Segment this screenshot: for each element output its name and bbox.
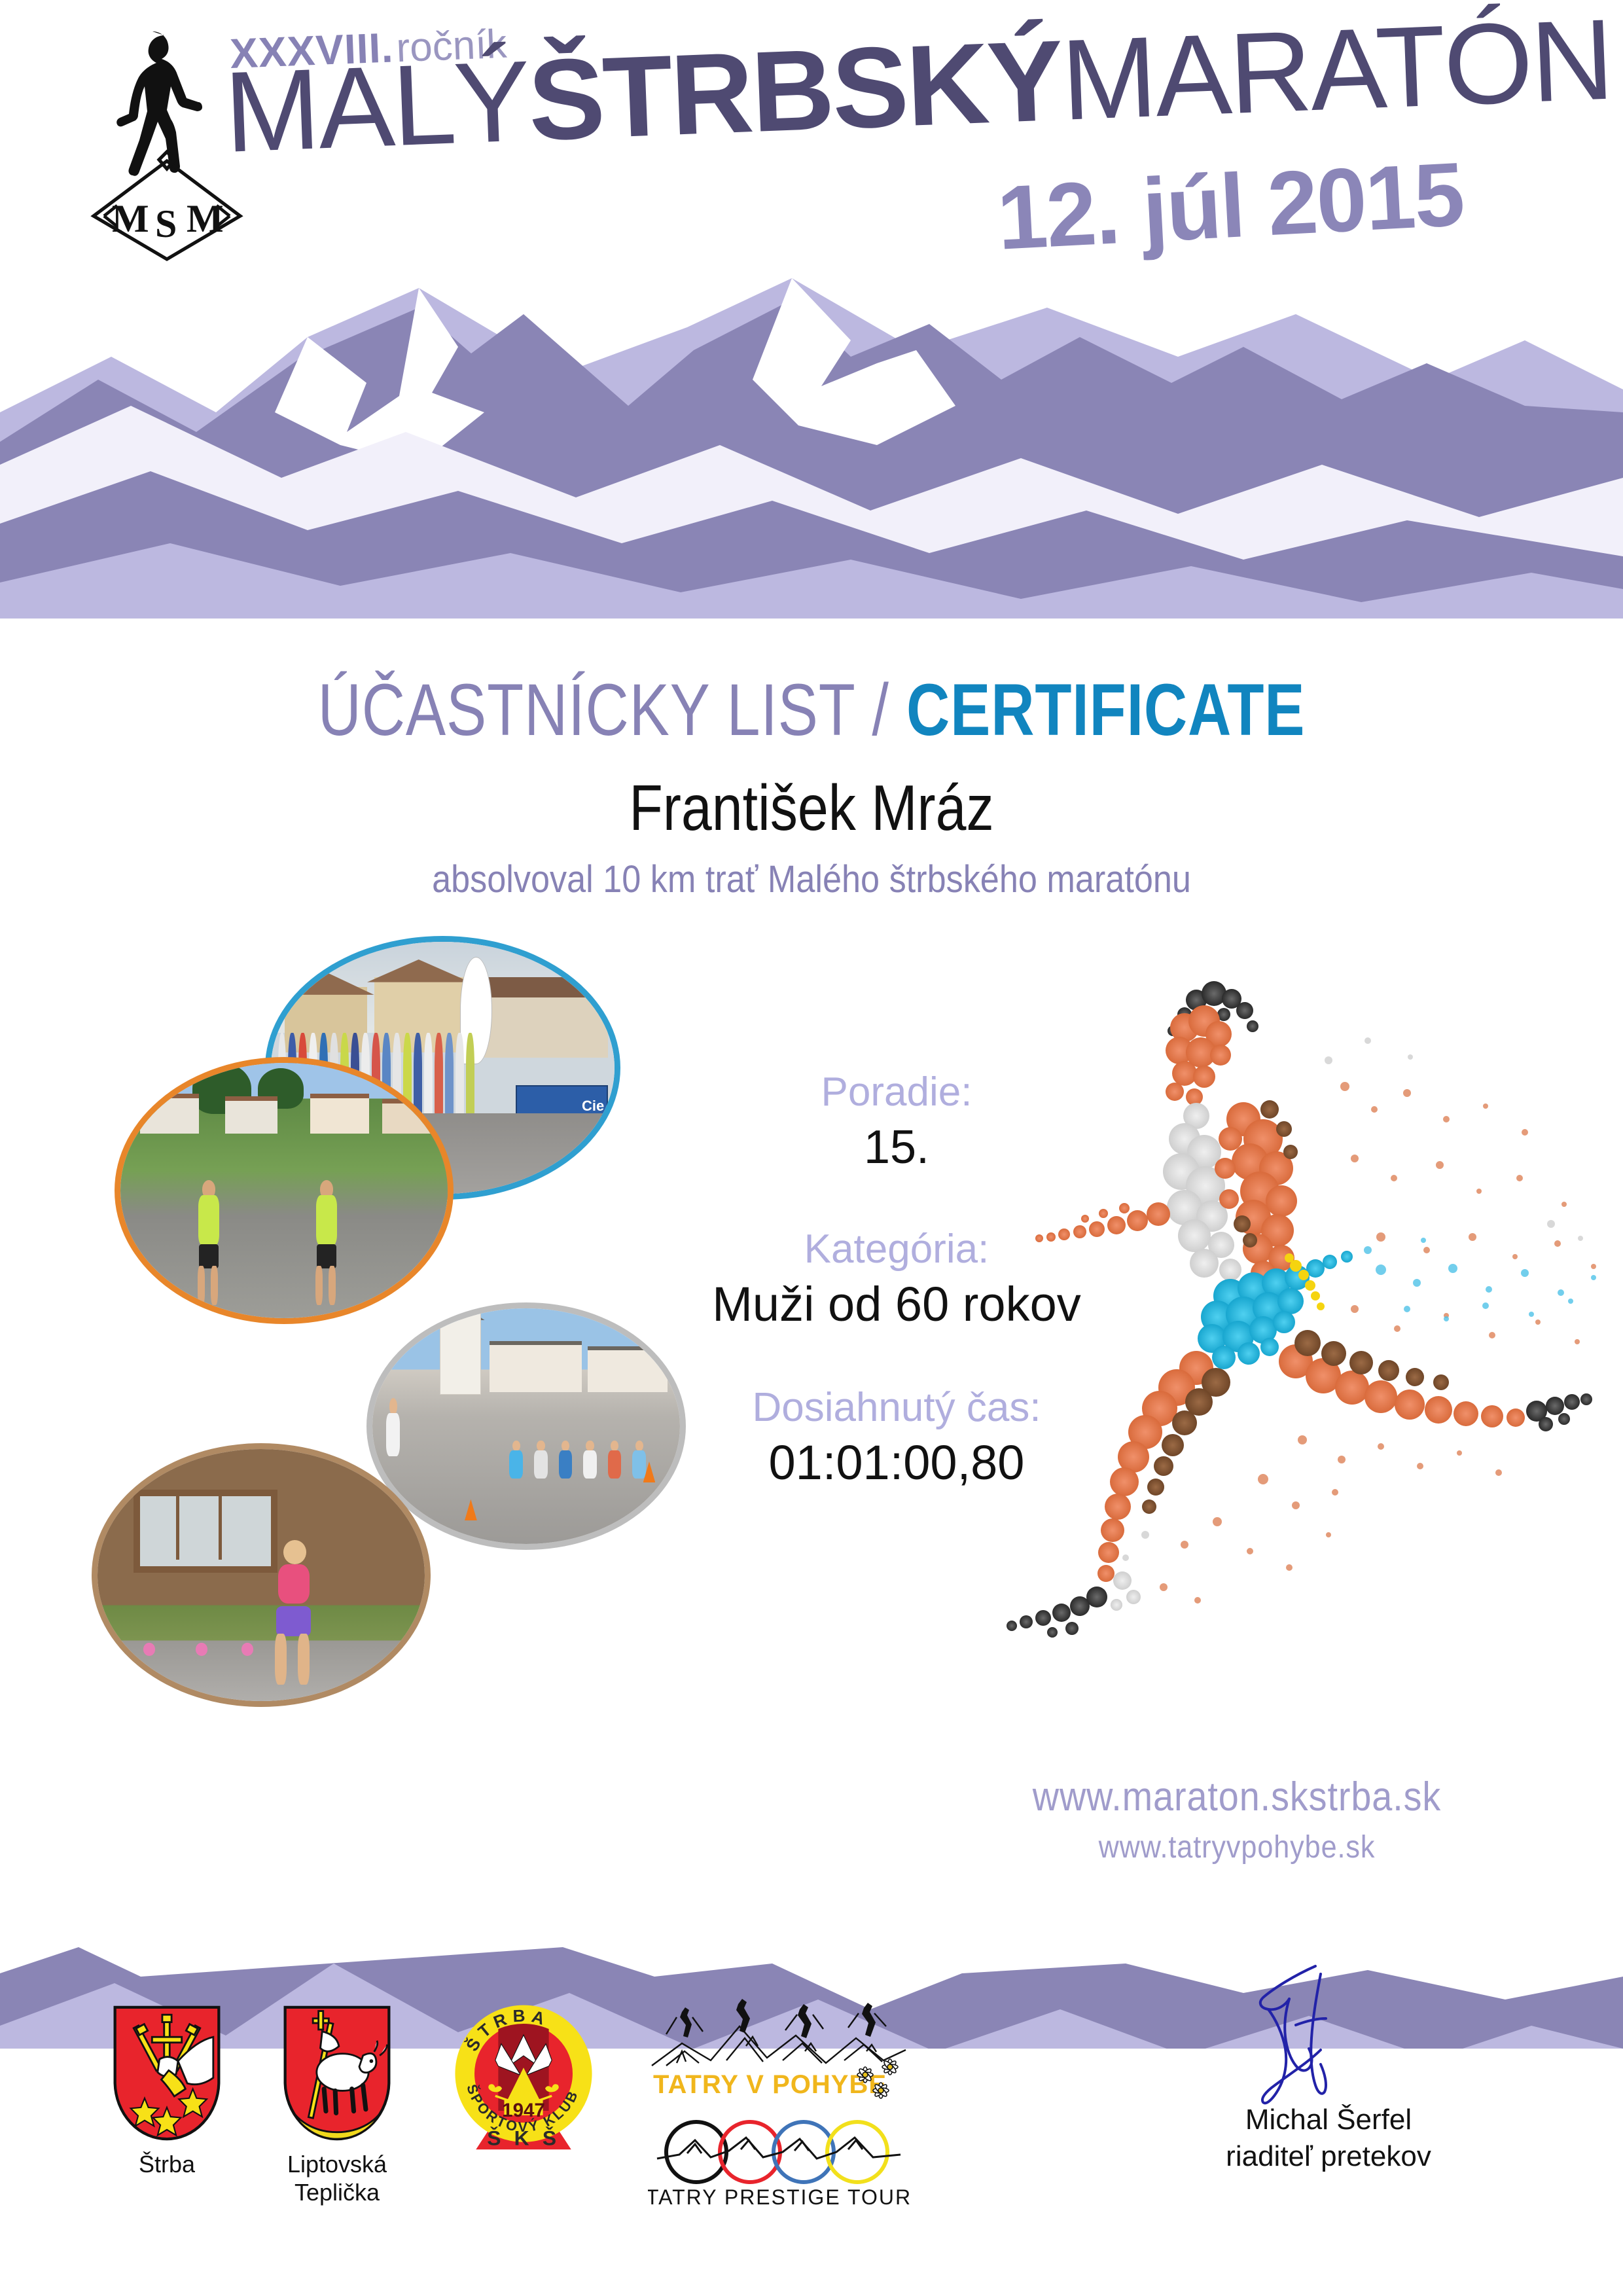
website-secondary[interactable]: www.tatryvpohybe.sk [925, 1829, 1549, 1865]
event-title-part3: MARATÓN [1059, 0, 1614, 145]
certificate-page: M S M XXXVIII. ročník MALÝŠTRBSKÝMARATÓN… [0, 0, 1623, 2296]
certificate-heading-sk: ÚČASTNÍCKY LIST [318, 669, 872, 751]
logo-liptovska-teplicka: Liptovská Teplička [255, 2003, 419, 2206]
signature-block: Michal Šerfel riaditeľ pretekov [1126, 1957, 1531, 2173]
signature-role: riaditeľ pretekov [1126, 2140, 1531, 2173]
strba-coat-of-arms-icon [111, 2003, 223, 2144]
page-header: M S M XXXVIII. ročník MALÝŠTRBSKÝMARATÓN… [0, 0, 1623, 641]
logo-liptovska-caption-line1: Liptovská [255, 2150, 419, 2178]
photo-banner-text: Cie [582, 1098, 604, 1115]
event-title-part1: MALÝ [223, 37, 531, 177]
liptovska-teplicka-coat-of-arms-icon [281, 2003, 393, 2144]
participant-subtitle: absolvoval 10 km trať Malého štrbského m… [81, 857, 1542, 901]
tatry-prestige-tour-icon: TATRY PRESTIGE TOUR [648, 2111, 910, 2216]
website-primary[interactable]: www.maraton.skstrba.sk [925, 1774, 1549, 1820]
handwritten-signature-icon [1217, 1957, 1440, 2127]
logo-sports-club-strba: 1947 ŠTRBA ŠPORTOVÝ KLUB Š K Š [438, 1996, 609, 2160]
logo-strba-caption: Štrba [85, 2150, 249, 2178]
photo-two-runners [115, 1057, 454, 1324]
event-title-part2: ŠTRBSKÝ [526, 17, 1064, 165]
logo-strba: Štrba [85, 2003, 249, 2178]
header-mountain-graphic [0, 216, 1623, 648]
certificate-heading-en: CERTIFICATE [906, 669, 1305, 751]
certificate-heading: ÚČASTNÍCKY LIST / CERTIFICATE [146, 668, 1477, 752]
sks-club-icon: 1947 ŠTRBA ŠPORTOVÝ KLUB Š K Š [448, 1996, 599, 2160]
tatry-v-pohybe-icon: TATRY V POHYBE [648, 1998, 910, 2109]
tatry-v-pohybe-wordmark: TATRY V POHYBE [653, 2070, 887, 2099]
signature-name: Michal Šerfel [1126, 2104, 1531, 2136]
svg-text:Š K Š: Š K Š [487, 2126, 560, 2149]
logo-liptovska-caption-line2: Teplička [255, 2178, 419, 2206]
certificate-heading-separator: / [872, 669, 906, 751]
logo-tatry-v-pohybe: TATRY V POHYBE [641, 1998, 916, 2216]
website-links: www.maraton.skstrba.sk www.tatryvpohybe.… [890, 1774, 1584, 1865]
participant-name: František Mráz [114, 771, 1510, 845]
photo-lady-runner [92, 1443, 431, 1707]
particle-runner-graphic [988, 942, 1616, 1748]
tatry-prestige-tour-wordmark: TATRY PRESTIGE TOUR [648, 2185, 910, 2209]
photo-collage: Cie [92, 936, 635, 1839]
